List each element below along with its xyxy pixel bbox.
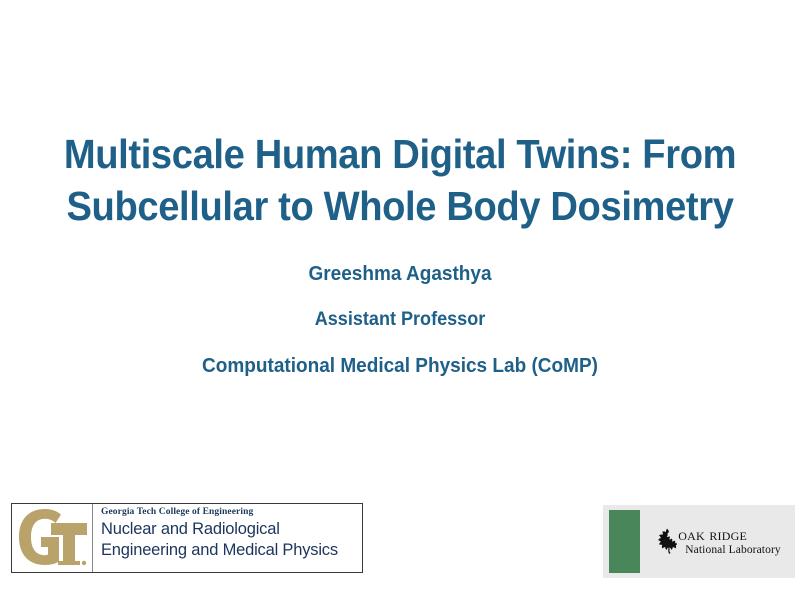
presenter-role: Assistant Professor xyxy=(47,308,754,332)
oak-leaf-icon xyxy=(658,528,677,554)
presenter-info: Greeshma Agasthya Assistant Professor Co… xyxy=(28,262,772,378)
page-title: Multiscale Human Digital Twins: From Sub… xyxy=(28,128,772,232)
ornl-text-lockup: Oak Ridge National Laboratory xyxy=(640,505,795,578)
presenter-name: Greeshma Agasthya xyxy=(47,262,754,286)
gt-department-line-2: Engineering and Medical Physics xyxy=(101,539,354,560)
ornl-name-line-1: Oak Ridge xyxy=(678,526,780,543)
title-slide: Multiscale Human Digital Twins: From Sub… xyxy=(0,0,800,600)
gt-monogram-icon xyxy=(12,504,93,572)
title-line-1: Multiscale Human Digital Twins: From xyxy=(54,128,746,180)
oak-ridge-logo: Oak Ridge National Laboratory xyxy=(603,505,795,578)
gt-text-lockup: Georgia Tech College of Engineering Nucl… xyxy=(93,504,362,572)
ornl-name-line-2: National Laboratory xyxy=(678,544,780,557)
presenter-affiliation: Computational Medical Physics Lab (CoMP) xyxy=(47,354,754,378)
georgia-tech-logo: Georgia Tech College of Engineering Nucl… xyxy=(11,503,363,573)
title-line-2: Subcellular to Whole Body Dosimetry xyxy=(54,180,746,232)
gt-college-label: Georgia Tech College of Engineering xyxy=(101,507,362,518)
gt-department-line-1: Nuclear and Radiological xyxy=(101,518,354,539)
ornl-green-bar xyxy=(609,510,640,573)
